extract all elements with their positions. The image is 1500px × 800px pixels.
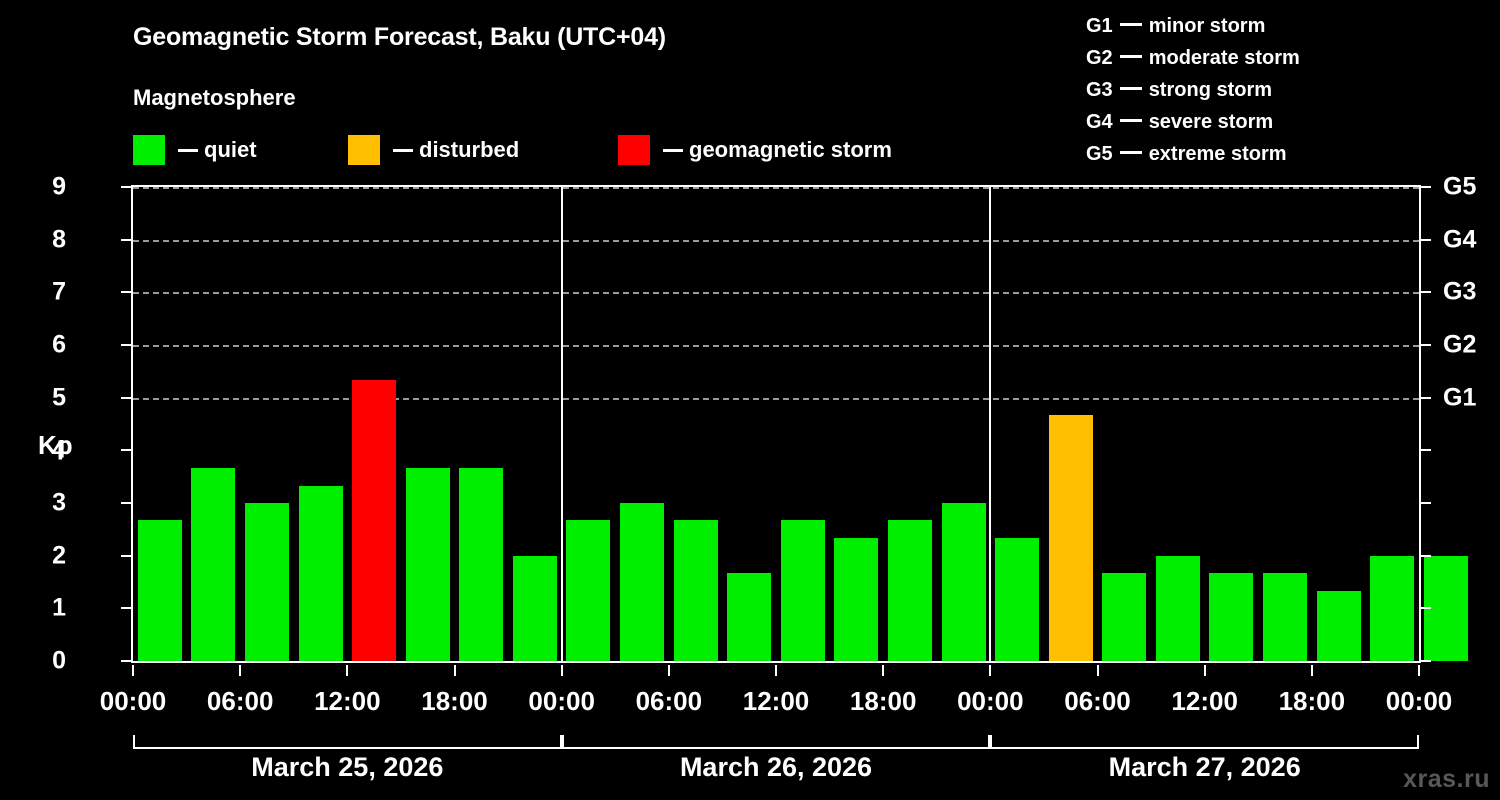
g-legend-text: moderate storm xyxy=(1149,47,1300,69)
y-tick-mark xyxy=(121,502,131,504)
bar xyxy=(406,468,450,661)
bar xyxy=(513,556,557,661)
y-tick-label-6: 6 xyxy=(52,331,66,360)
g-legend-text: strong storm xyxy=(1149,79,1272,101)
y-tick-mark xyxy=(121,239,131,241)
y-tick-label-0: 0 xyxy=(52,647,66,676)
bar xyxy=(1156,556,1200,661)
day-bracket xyxy=(562,735,991,749)
bar xyxy=(1263,573,1307,661)
x-tick-label: 06:00 xyxy=(207,686,274,717)
bar xyxy=(352,380,396,661)
x-tick-label: 18:00 xyxy=(850,686,917,717)
y-tick-mark-right xyxy=(1421,291,1431,293)
legend-dash-icon xyxy=(393,149,413,152)
bar xyxy=(888,520,932,661)
y-tick-mark xyxy=(121,449,131,451)
y-tick-mark xyxy=(121,397,131,399)
g-legend-code: G3 xyxy=(1086,74,1113,106)
g-axis-label-g4: G4 xyxy=(1443,225,1476,254)
g-legend-code: G1 xyxy=(1086,10,1113,42)
bar xyxy=(566,520,610,661)
bar xyxy=(674,520,718,661)
y-tick-mark xyxy=(121,291,131,293)
day-divider xyxy=(561,187,563,661)
x-tick-label: 06:00 xyxy=(636,686,703,717)
bar xyxy=(1370,556,1414,661)
x-tick-mark xyxy=(346,665,348,676)
x-tick-mark xyxy=(561,665,563,676)
page-title: Geomagnetic Storm Forecast, Baku (UTC+04… xyxy=(133,23,666,52)
g-legend-code: G4 xyxy=(1086,106,1113,138)
bar xyxy=(727,573,771,661)
bar xyxy=(620,503,664,661)
y-tick-label-2: 2 xyxy=(52,541,66,570)
x-tick-label: 06:00 xyxy=(1064,686,1131,717)
bar xyxy=(459,468,503,661)
x-tick-mark xyxy=(775,665,777,676)
g-legend-text: extreme storm xyxy=(1149,143,1287,165)
bar xyxy=(781,520,825,661)
y-tick-mark-right xyxy=(1421,555,1431,557)
y-tick-label-5: 5 xyxy=(52,383,66,412)
legend-entry-quiet: quiet xyxy=(133,134,257,166)
bar xyxy=(138,520,182,661)
y-tick-mark-right xyxy=(1421,397,1431,399)
g-legend-dash-icon xyxy=(1120,151,1142,154)
x-tick-mark xyxy=(1311,665,1313,676)
y-tick-mark xyxy=(121,555,131,557)
legend-dash-icon xyxy=(663,149,683,152)
g-legend-row-g2: G2moderate storm xyxy=(1068,42,1488,74)
g-axis-label-g1: G1 xyxy=(1443,383,1476,412)
plot-inner xyxy=(133,187,1419,661)
y-tick-label-1: 1 xyxy=(52,594,66,623)
y-tick-label-9: 9 xyxy=(52,173,66,202)
watermark: xras.ru xyxy=(1403,765,1490,794)
y-tick-mark-right xyxy=(1421,660,1431,662)
bar xyxy=(1317,591,1361,661)
day-label: March 26, 2026 xyxy=(680,752,872,783)
g-legend-code: G5 xyxy=(1086,138,1113,170)
g-axis-label-g5: G5 xyxy=(1443,173,1476,202)
g-legend-text: severe storm xyxy=(1149,111,1274,133)
day-label: March 25, 2026 xyxy=(251,752,443,783)
bar xyxy=(942,503,986,661)
x-tick-mark xyxy=(668,665,670,676)
y-tick-label-8: 8 xyxy=(52,225,66,254)
g-legend-text: minor storm xyxy=(1149,15,1266,37)
bar xyxy=(1102,573,1146,661)
x-tick-mark xyxy=(132,665,134,676)
x-tick-mark xyxy=(882,665,884,676)
x-tick-mark xyxy=(1204,665,1206,676)
g-axis-label-g2: G2 xyxy=(1443,331,1476,360)
y-tick-mark-right xyxy=(1421,344,1431,346)
x-tick-mark xyxy=(989,665,991,676)
legend-entry-disturbed: disturbed xyxy=(348,134,519,166)
g-legend-code: G2 xyxy=(1086,42,1113,74)
y-tick-mark xyxy=(121,607,131,609)
x-tick-mark xyxy=(1418,665,1420,676)
legend-entry-storm: geomagnetic storm xyxy=(618,134,892,166)
y-tick-mark xyxy=(121,660,131,662)
g-legend-row-g4: G4severe storm xyxy=(1068,106,1488,138)
x-tick-label: 00:00 xyxy=(957,686,1024,717)
bar xyxy=(995,538,1039,661)
g-legend-dash-icon xyxy=(1120,23,1142,26)
x-tick-label: 12:00 xyxy=(314,686,381,717)
y-tick-mark-right xyxy=(1421,449,1431,451)
plot-area xyxy=(131,185,1421,663)
y-tick-mark xyxy=(121,344,131,346)
legend-dash-icon xyxy=(178,149,198,152)
x-tick-mark xyxy=(454,665,456,676)
g-legend-dash-icon xyxy=(1120,55,1142,58)
y-tick-mark-right xyxy=(1421,186,1431,188)
day-bracket xyxy=(133,735,562,749)
y-tick-label-4: 4 xyxy=(52,436,66,465)
g-legend-row-g5: G5extreme storm xyxy=(1068,138,1488,170)
y-tick-mark xyxy=(121,186,131,188)
x-tick-label: 00:00 xyxy=(528,686,595,717)
x-tick-label: 00:00 xyxy=(100,686,167,717)
day-divider xyxy=(989,187,991,661)
y-tick-label-7: 7 xyxy=(52,278,66,307)
y-tick-mark-right xyxy=(1421,239,1431,241)
x-tick-label: 18:00 xyxy=(421,686,488,717)
g-legend-row-g3: G3strong storm xyxy=(1068,74,1488,106)
g-legend-dash-icon xyxy=(1120,87,1142,90)
g-legend-row-g1: G1minor storm xyxy=(1068,10,1488,42)
x-tick-mark xyxy=(239,665,241,676)
y-tick-label-3: 3 xyxy=(52,489,66,518)
y-tick-mark-right xyxy=(1421,502,1431,504)
bar xyxy=(1049,415,1093,661)
magnetosphere-label: Magnetosphere xyxy=(133,85,296,111)
x-tick-mark xyxy=(1097,665,1099,676)
bar xyxy=(191,468,235,661)
x-tick-label: 18:00 xyxy=(1279,686,1346,717)
x-tick-label: 12:00 xyxy=(1171,686,1238,717)
bar xyxy=(834,538,878,661)
day-bracket xyxy=(990,735,1419,749)
bar xyxy=(299,486,343,661)
legend-label-storm: geomagnetic storm xyxy=(689,137,892,163)
g-scale-legend: G1minor stormG2moderate stormG3strong st… xyxy=(1068,10,1488,170)
legend-swatch-quiet xyxy=(133,135,165,165)
x-tick-label: 12:00 xyxy=(743,686,810,717)
legend-label-disturbed: disturbed xyxy=(419,137,519,163)
bar-series xyxy=(133,187,1419,661)
y-tick-mark-right xyxy=(1421,607,1431,609)
bar xyxy=(245,503,289,661)
x-tick-label: 00:00 xyxy=(1386,686,1453,717)
g-legend-dash-icon xyxy=(1120,119,1142,122)
day-label: March 27, 2026 xyxy=(1109,752,1301,783)
legend-swatch-storm xyxy=(618,135,650,165)
legend-label-quiet: quiet xyxy=(204,137,257,163)
legend-swatch-disturbed xyxy=(348,135,380,165)
bar xyxy=(1209,573,1253,661)
g-axis-label-g3: G3 xyxy=(1443,278,1476,307)
